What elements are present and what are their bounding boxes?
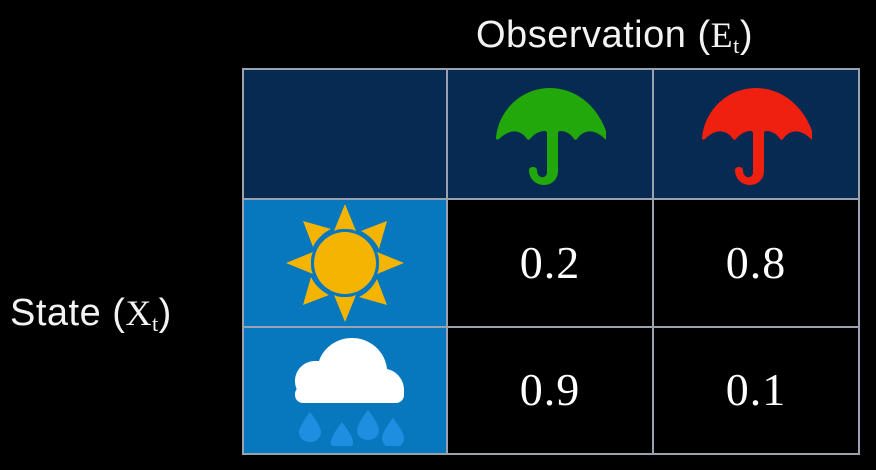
rain-cloud-icon-wrap: [244, 328, 446, 453]
table-row-rainy: 0.9 0.1: [243, 327, 859, 454]
value-cell-rainy-red: 0.1: [653, 327, 859, 454]
state-title-paren-open: (: [112, 292, 125, 334]
header-cell-umbrella-green: [447, 69, 653, 199]
state-variable: Xt: [125, 293, 158, 333]
row-header-sunny: [243, 199, 447, 326]
state-title-text: State: [10, 292, 101, 334]
header-cell-umbrella-red: [653, 69, 859, 199]
observation-title-paren-open: (: [697, 14, 710, 56]
value-cell-rainy-green: 0.9: [447, 327, 653, 454]
row-header-rainy: [243, 327, 447, 454]
observation-variable: Et: [711, 15, 740, 55]
sun-icon-wrap: [244, 200, 446, 325]
observation-variable-letter: E: [711, 15, 734, 55]
table-row-sunny: 0.2 0.8: [243, 199, 859, 326]
state-title-paren-close: ): [159, 292, 172, 334]
corner-cell: [243, 69, 447, 199]
umbrella-red-icon-wrap: [654, 70, 858, 198]
observation-title-paren-close: ): [740, 14, 753, 56]
value-cell-sunny-green: 0.2: [447, 199, 653, 326]
observation-title-text: Observation: [476, 14, 686, 56]
table-header-row: [243, 69, 859, 199]
observation-variable-subscript: t: [733, 33, 740, 58]
state-variable-subscript: t: [152, 311, 159, 336]
observation-axis-title: Observation (Et): [476, 16, 753, 54]
rain-cloud-icon: [281, 334, 409, 446]
state-axis-title: State (Xt): [10, 294, 172, 332]
umbrella-green-icon-wrap: [448, 70, 652, 198]
state-variable-letter: X: [125, 293, 152, 333]
umbrella-green-icon: [494, 82, 606, 186]
value-cell-sunny-red: 0.8: [653, 199, 859, 326]
sun-icon: [286, 204, 404, 322]
slide-canvas: Observation (Et) State (Xt): [0, 0, 876, 470]
sensor-model-table: 0.2 0.8: [242, 68, 860, 455]
umbrella-red-icon: [700, 82, 812, 186]
